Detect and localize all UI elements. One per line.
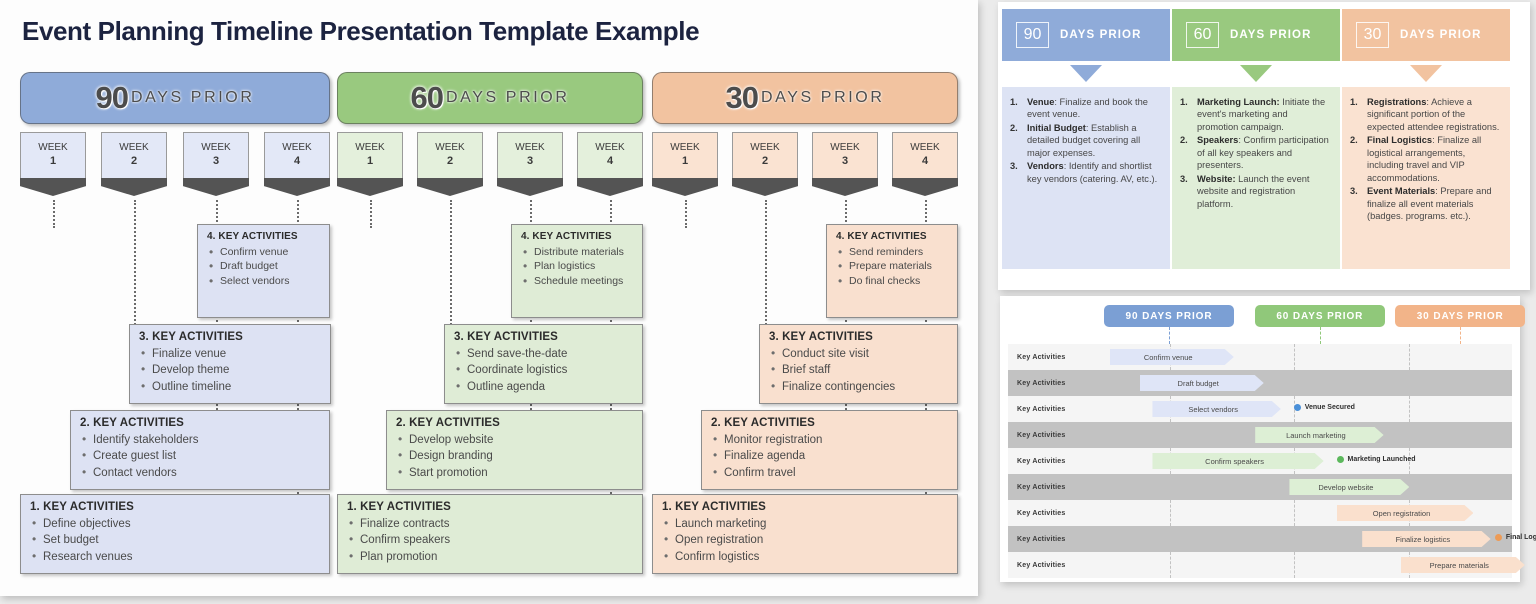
week-number: 3: [842, 155, 848, 169]
week-tab-4[interactable]: WEEK4: [577, 132, 643, 196]
activity-item: Finalize contingencies: [769, 379, 948, 395]
week-tab-body: WEEK4: [577, 132, 643, 178]
week-number: 4: [922, 155, 928, 169]
gantt-tick: [1460, 327, 1461, 344]
week-chevron-icon: [652, 178, 718, 196]
week-chevron-icon: [812, 178, 878, 196]
phase-column-30: 30DAYS PRIORWEEK1WEEK2WEEK3WEEK41. KEY A…: [652, 72, 958, 194]
week-number: 3: [213, 155, 219, 169]
chevron-down-icon: [1240, 65, 1272, 82]
activity-box-1[interactable]: 1. KEY ACTIVITIESFinalize contractsConfi…: [337, 494, 643, 574]
gantt-rows: Key ActivitiesConfirm venueKey Activitie…: [1008, 344, 1512, 578]
activity-item: Contact vendors: [80, 465, 320, 481]
activity-item: Send save-the-date: [454, 346, 633, 362]
activity-box-title: 2. KEY ACTIVITIES: [80, 417, 320, 429]
activity-box-1[interactable]: 1. KEY ACTIVITIESDefine objectivesSet bu…: [20, 494, 330, 574]
activity-item: Plan promotion: [347, 549, 633, 565]
gantt-gridline: [1409, 396, 1410, 422]
gantt-track: Open registration: [1084, 500, 1512, 526]
gantt-milestone[interactable]: Final Logistics: [1495, 534, 1536, 541]
week-chevron-icon: [577, 178, 643, 196]
milestone-card-header: 90DAYS PRIOR: [1002, 9, 1170, 61]
activity-list: Distribute materialsPlan logisticsSchedu…: [521, 245, 633, 288]
gantt-track: Develop website: [1084, 474, 1512, 500]
gantt-gridline: [1409, 370, 1410, 396]
milestone-card-30[interactable]: 30DAYS PRIORRegistrations: Achieve a sig…: [1342, 9, 1510, 269]
timeline-panel: Event Planning Timeline Presentation Tem…: [0, 0, 978, 596]
gantt-row[interactable]: Key ActivitiesConfirm venue: [1008, 344, 1512, 370]
days-prior-label: DAYS PRIOR: [1060, 29, 1142, 41]
week-number: 1: [50, 155, 56, 169]
chevron-down-icon: [1410, 65, 1442, 82]
activity-item: Launch marketing: [662, 516, 948, 532]
milestone-item-label: Website:: [1197, 174, 1236, 184]
activity-list: Finalize contractsConfirm speakersPlan p…: [347, 516, 633, 565]
week-tab-body: WEEK3: [812, 132, 878, 178]
week-chevron-icon: [417, 178, 483, 196]
milestone-list: Venue: Finalize and book the event venue…: [1010, 96, 1160, 185]
gantt-row-label: Key Activities: [1008, 432, 1084, 439]
gantt-milestone[interactable]: Marketing Launched: [1337, 456, 1416, 463]
week-chevron-icon: [497, 178, 563, 196]
week-number: 2: [131, 155, 137, 169]
milestone-cards-panel: 90DAYS PRIORVenue: Finalize and book the…: [998, 2, 1530, 290]
week-number: 1: [367, 155, 373, 169]
week-tab-body: WEEK3: [183, 132, 249, 178]
milestone-card-60[interactable]: 60DAYS PRIORMarketing Launch: Initiate t…: [1172, 9, 1340, 269]
activity-item: Brief staff: [769, 362, 948, 378]
week-word: WEEK: [38, 142, 67, 155]
week-tab-2[interactable]: WEEK2: [101, 132, 167, 196]
gantt-header: 90 DAYS PRIOR60 DAYS PRIOR30 DAYS PRIOR: [1000, 296, 1520, 344]
milestone-item-label: Registrations: [1367, 97, 1426, 107]
week-tab-body: WEEK1: [20, 132, 86, 178]
milestone-list: Registrations: Achieve a significant por…: [1350, 96, 1500, 223]
week-tab-body: WEEK2: [732, 132, 798, 178]
phase-number: 30: [726, 80, 758, 116]
activity-item: Confirm travel: [711, 465, 948, 481]
week-number: 2: [447, 155, 453, 169]
activity-box-4[interactable]: 4. KEY ACTIVITIESConfirm venueDraft budg…: [197, 224, 330, 318]
gantt-gridline: [1409, 344, 1410, 370]
week-word: WEEK: [750, 142, 779, 155]
milestone-item-label: Speakers: [1197, 135, 1238, 145]
activity-item: Coordinate logistics: [454, 362, 633, 378]
slide-canvas: Event Planning Timeline Presentation Tem…: [0, 0, 1536, 604]
week-number: 1: [682, 155, 688, 169]
gantt-chart-panel: 90 DAYS PRIOR60 DAYS PRIOR30 DAYS PRIOR …: [1000, 296, 1520, 582]
gantt-row[interactable]: Key ActivitiesFinalize logisticsFinal Lo…: [1008, 526, 1512, 552]
gantt-gridline: [1294, 526, 1295, 552]
activity-box-title: 3. KEY ACTIVITIES: [454, 331, 633, 343]
week-tab-body: WEEK2: [101, 132, 167, 178]
gantt-track: Draft budget: [1084, 370, 1512, 396]
gantt-row[interactable]: Key ActivitiesPrepare materials: [1008, 552, 1512, 578]
gantt-gridline: [1409, 422, 1410, 448]
gantt-row[interactable]: Key ActivitiesDraft budget: [1008, 370, 1512, 396]
week-tab-2[interactable]: WEEK2: [417, 132, 483, 196]
activity-list: Send remindersPrepare materialsDo final …: [836, 245, 948, 288]
gantt-gridline: [1170, 552, 1171, 578]
milestone-item: Initial Budget: Establish a detailed bud…: [1010, 122, 1160, 159]
milestone-item-label: Marketing Launch:: [1197, 97, 1280, 107]
activity-item: Identify stakeholders: [80, 432, 320, 448]
milestone-item: Website: Launch the event website and re…: [1180, 173, 1330, 210]
week-tab-2[interactable]: WEEK2: [732, 132, 798, 196]
activity-item: Confirm speakers: [347, 532, 633, 548]
activity-box-3[interactable]: 3. KEY ACTIVITIESFinalize venueDevelop t…: [129, 324, 331, 404]
gantt-row-label: Key Activities: [1008, 354, 1084, 361]
week-word: WEEK: [910, 142, 939, 155]
activity-box-3[interactable]: 3. KEY ACTIVITIESConduct site visitBrief…: [759, 324, 958, 404]
activity-item: Do final checks: [836, 274, 948, 288]
milestone-item: Speakers: Confirm participation of all k…: [1180, 134, 1330, 171]
activity-item: Outline timeline: [139, 379, 321, 395]
milestone-dot-icon: [1495, 534, 1502, 541]
gantt-gridline: [1170, 526, 1171, 552]
milestone-item: Marketing Launch: Initiate the event's m…: [1180, 96, 1330, 133]
gantt-phase-pill[interactable]: 30 DAYS PRIOR: [1395, 305, 1525, 327]
gantt-gridline: [1294, 370, 1295, 396]
gantt-row-label: Key Activities: [1008, 510, 1084, 517]
gantt-gridline: [1170, 500, 1171, 526]
milestone-item-label: Final Logistics: [1367, 135, 1432, 145]
week-word: WEEK: [670, 142, 699, 155]
gantt-gridline: [1294, 552, 1295, 578]
activity-item: Confirm logistics: [662, 549, 948, 565]
gantt-track: Prepare materials: [1084, 552, 1512, 578]
milestone-card-header: 30DAYS PRIOR: [1342, 9, 1510, 61]
activity-box-title: 3. KEY ACTIVITIES: [769, 331, 948, 343]
gantt-row-label: Key Activities: [1008, 380, 1084, 387]
gantt-row[interactable]: Key ActivitiesLaunch marketing: [1008, 422, 1512, 448]
milestone-item-label: Venue: [1027, 97, 1054, 107]
week-number: 3: [527, 155, 533, 169]
gantt-task-bar[interactable]: Confirm venue: [1110, 349, 1234, 365]
gantt-track: Select vendorsVenue Secured: [1084, 396, 1512, 422]
page-title: Event Planning Timeline Presentation Tem…: [22, 16, 699, 47]
gantt-task-bar[interactable]: Finalize logistics: [1362, 531, 1490, 547]
gantt-gridline: [1409, 474, 1410, 500]
gantt-tick: [1320, 327, 1321, 344]
milestone-item: Venue: Finalize and book the event venue…: [1010, 96, 1160, 121]
connector-line: [765, 200, 767, 328]
activity-item: Finalize venue: [139, 346, 321, 362]
milestone-item-label: Vendors: [1027, 161, 1064, 171]
week-tab-3[interactable]: WEEK3: [183, 132, 249, 196]
activity-item: Finalize agenda: [711, 448, 948, 464]
phase-header-30[interactable]: 30DAYS PRIOR: [652, 72, 958, 124]
activity-item: Select vendors: [207, 274, 320, 288]
milestone-item-label: Initial Budget: [1027, 123, 1086, 133]
activity-item: Finalize contracts: [347, 516, 633, 532]
milestone-item: Final Logistics: Finalize all logistical…: [1350, 134, 1500, 184]
week-word: WEEK: [830, 142, 859, 155]
week-chevron-icon: [337, 178, 403, 196]
week-tab-4[interactable]: WEEK4: [892, 132, 958, 196]
milestone-dot-icon: [1337, 456, 1344, 463]
week-word: WEEK: [515, 142, 544, 155]
activity-item: Monitor registration: [711, 432, 948, 448]
milestone-list: Marketing Launch: Initiate the event's m…: [1180, 96, 1330, 210]
gantt-phase-pill[interactable]: 90 DAYS PRIOR: [1104, 305, 1234, 327]
activity-list: Develop websiteDesign brandingStart prom…: [396, 432, 633, 481]
activity-item: Develop website: [396, 432, 633, 448]
activity-item: Schedule meetings: [521, 274, 633, 288]
gantt-row-label: Key Activities: [1008, 484, 1084, 491]
activity-list: Conduct site visitBrief staffFinalize co…: [769, 346, 948, 395]
week-word: WEEK: [355, 142, 384, 155]
gantt-row[interactable]: Key ActivitiesDevelop website: [1008, 474, 1512, 500]
week-chevron-icon: [20, 178, 86, 196]
gantt-task-bar[interactable]: Develop website: [1289, 479, 1409, 495]
activity-item: Plan logistics: [521, 259, 633, 273]
gantt-task-bar[interactable]: Prepare materials: [1401, 557, 1525, 573]
gantt-gridline: [1294, 500, 1295, 526]
milestone-item: Vendors: Identify and shortlist key vend…: [1010, 160, 1160, 185]
activity-box-title: 3. KEY ACTIVITIES: [139, 331, 321, 343]
week-chevron-icon: [892, 178, 958, 196]
week-tab-body: WEEK4: [264, 132, 330, 178]
gantt-milestone[interactable]: Venue Secured: [1294, 404, 1355, 411]
activity-list: Launch marketingOpen registrationConfirm…: [662, 516, 948, 565]
gantt-track: Confirm venue: [1084, 344, 1512, 370]
gantt-phase-pill[interactable]: 60 DAYS PRIOR: [1255, 305, 1385, 327]
activity-item: Distribute materials: [521, 245, 633, 259]
phase-header-60[interactable]: 60DAYS PRIOR: [337, 72, 643, 124]
milestone-card-body: Marketing Launch: Initiate the event's m…: [1172, 87, 1340, 269]
week-number: 4: [607, 155, 613, 169]
phase-header-90[interactable]: 90DAYS PRIOR: [20, 72, 330, 124]
activity-box-2[interactable]: 2. KEY ACTIVITIESMonitor registrationFin…: [701, 410, 958, 490]
activity-box-2[interactable]: 2. KEY ACTIVITIESIdentify stakeholdersCr…: [70, 410, 330, 490]
activity-box-title: 4. KEY ACTIVITIES: [836, 231, 948, 242]
gantt-gridline: [1170, 422, 1171, 448]
week-number: 4: [294, 155, 300, 169]
week-chevron-icon: [732, 178, 798, 196]
activity-item: Conduct site visit: [769, 346, 948, 362]
milestone-dot-icon: [1294, 404, 1301, 411]
activity-list: Finalize venueDevelop themeOutline timel…: [139, 346, 321, 395]
gantt-row-label: Key Activities: [1008, 562, 1084, 569]
activity-item: Set budget: [30, 532, 320, 548]
activity-item: Create guest list: [80, 448, 320, 464]
phase-days-label: DAYS PRIOR: [131, 89, 255, 107]
gantt-row[interactable]: Key ActivitiesOpen registration: [1008, 500, 1512, 526]
activity-box-title: 1. KEY ACTIVITIES: [30, 501, 320, 513]
days-badge: 60: [1186, 22, 1219, 48]
gantt-task-bar[interactable]: Launch marketing: [1255, 427, 1383, 443]
week-tab-body: WEEK4: [892, 132, 958, 178]
milestone-item: Event Materials: Prepare and finalize al…: [1350, 185, 1500, 222]
week-tab-1[interactable]: WEEK1: [337, 132, 403, 196]
week-tab-body: WEEK3: [497, 132, 563, 178]
week-tab-3[interactable]: WEEK3: [812, 132, 878, 196]
activity-item: Open registration: [662, 532, 948, 548]
connector-line: [685, 200, 687, 228]
activity-item: Research venues: [30, 549, 320, 565]
gantt-row[interactable]: Key ActivitiesConfirm speakersMarketing …: [1008, 448, 1512, 474]
days-badge: 90: [1016, 22, 1049, 48]
gantt-row[interactable]: Key ActivitiesSelect vendorsVenue Secure…: [1008, 396, 1512, 422]
activity-list: Confirm venueDraft budgetSelect vendors: [207, 245, 320, 288]
phase-days-label: DAYS PRIOR: [446, 89, 570, 107]
gantt-task-bar[interactable]: Draft budget: [1140, 375, 1264, 391]
phase-column-60: 60DAYS PRIORWEEK1WEEK2WEEK3WEEK41. KEY A…: [337, 72, 643, 194]
milestone-card-body: Registrations: Achieve a significant por…: [1342, 87, 1510, 269]
week-tab-body: WEEK1: [337, 132, 403, 178]
activity-list: Monitor registrationFinalize agendaConfi…: [711, 432, 948, 481]
milestone-label: Marketing Launched: [1348, 456, 1416, 463]
gantt-track: Confirm speakersMarketing Launched: [1084, 448, 1512, 474]
days-prior-label: DAYS PRIOR: [1400, 29, 1482, 41]
connector-line: [53, 200, 55, 228]
activity-box-2[interactable]: 2. KEY ACTIVITIESDevelop websiteDesign b…: [386, 410, 643, 490]
days-badge: 30: [1356, 22, 1389, 48]
week-word: WEEK: [282, 142, 311, 155]
activity-list: Send save-the-dateCoordinate logisticsOu…: [454, 346, 633, 395]
connector-line: [450, 200, 452, 328]
week-tab-row: WEEK1WEEK2WEEK3WEEK4: [337, 132, 643, 194]
gantt-task-bar[interactable]: Confirm speakers: [1152, 453, 1323, 469]
activity-item: Outline agenda: [454, 379, 633, 395]
week-tab-row: WEEK1WEEK2WEEK3WEEK4: [20, 132, 330, 194]
activity-box-title: 1. KEY ACTIVITIES: [662, 501, 948, 513]
gantt-gridline: [1170, 474, 1171, 500]
gantt-task-bar[interactable]: Select vendors: [1152, 401, 1280, 417]
activity-box-title: 4. KEY ACTIVITIES: [521, 231, 633, 242]
week-chevron-icon: [183, 178, 249, 196]
activity-box-3[interactable]: 3. KEY ACTIVITIESSend save-the-dateCoord…: [444, 324, 643, 404]
milestone-label: Final Logistics: [1506, 534, 1536, 541]
milestone-card-header: 60DAYS PRIOR: [1172, 9, 1340, 61]
activity-item: Start promotion: [396, 465, 633, 481]
activity-item: Design branding: [396, 448, 633, 464]
gantt-tick: [1169, 327, 1170, 344]
week-tab-1[interactable]: WEEK1: [652, 132, 718, 196]
milestone-card-body: Venue: Finalize and book the event venue…: [1002, 87, 1170, 269]
activity-box-4[interactable]: 4. KEY ACTIVITIESSend remindersPrepare m…: [826, 224, 958, 318]
activity-list: Define objectivesSet budgetResearch venu…: [30, 516, 320, 565]
week-word: WEEK: [435, 142, 464, 155]
milestone-label: Venue Secured: [1305, 404, 1355, 411]
activity-box-4[interactable]: 4. KEY ACTIVITIESDistribute materialsPla…: [511, 224, 643, 318]
phase-number: 90: [96, 80, 128, 116]
activity-item: Draft budget: [207, 259, 320, 273]
activity-item: Develop theme: [139, 362, 321, 378]
week-tab-body: WEEK1: [652, 132, 718, 178]
milestone-item: Registrations: Achieve a significant por…: [1350, 96, 1500, 133]
gantt-track: Finalize logisticsFinal Logistics: [1084, 526, 1512, 552]
week-tab-4[interactable]: WEEK4: [264, 132, 330, 196]
activity-box-1[interactable]: 1. KEY ACTIVITIESLaunch marketingOpen re…: [652, 494, 958, 574]
week-number: 2: [762, 155, 768, 169]
milestone-card-90[interactable]: 90DAYS PRIORVenue: Finalize and book the…: [1002, 9, 1170, 269]
week-tab-1[interactable]: WEEK1: [20, 132, 86, 196]
activity-item: Confirm venue: [207, 245, 320, 259]
chevron-down-icon: [1070, 65, 1102, 82]
week-word: WEEK: [201, 142, 230, 155]
phase-number: 60: [411, 80, 443, 116]
activity-item: Define objectives: [30, 516, 320, 532]
activity-item: Send reminders: [836, 245, 948, 259]
activity-box-title: 2. KEY ACTIVITIES: [396, 417, 633, 429]
gantt-row-label: Key Activities: [1008, 458, 1084, 465]
activity-box-title: 4. KEY ACTIVITIES: [207, 231, 320, 242]
week-word: WEEK: [595, 142, 624, 155]
activity-list: Identify stakeholdersCreate guest listCo…: [80, 432, 320, 481]
days-prior-label: DAYS PRIOR: [1230, 29, 1312, 41]
week-word: WEEK: [119, 142, 148, 155]
connector-line: [134, 200, 136, 328]
gantt-gridline: [1294, 344, 1295, 370]
milestone-item-label: Event Materials: [1367, 186, 1435, 196]
activity-box-title: 2. KEY ACTIVITIES: [711, 417, 948, 429]
phase-column-90: 90DAYS PRIORWEEK1WEEK2WEEK3WEEK41. KEY A…: [20, 72, 330, 194]
week-chevron-icon: [264, 178, 330, 196]
week-tab-row: WEEK1WEEK2WEEK3WEEK4: [652, 132, 958, 194]
gantt-track: Launch marketing: [1084, 422, 1512, 448]
week-chevron-icon: [101, 178, 167, 196]
gantt-row-label: Key Activities: [1008, 536, 1084, 543]
connector-line: [370, 200, 372, 228]
activity-box-title: 1. KEY ACTIVITIES: [347, 501, 633, 513]
gantt-row-label: Key Activities: [1008, 406, 1084, 413]
gantt-task-bar[interactable]: Open registration: [1337, 505, 1474, 521]
week-tab-body: WEEK2: [417, 132, 483, 178]
week-tab-3[interactable]: WEEK3: [497, 132, 563, 196]
activity-item: Prepare materials: [836, 259, 948, 273]
phase-days-label: DAYS PRIOR: [761, 89, 885, 107]
